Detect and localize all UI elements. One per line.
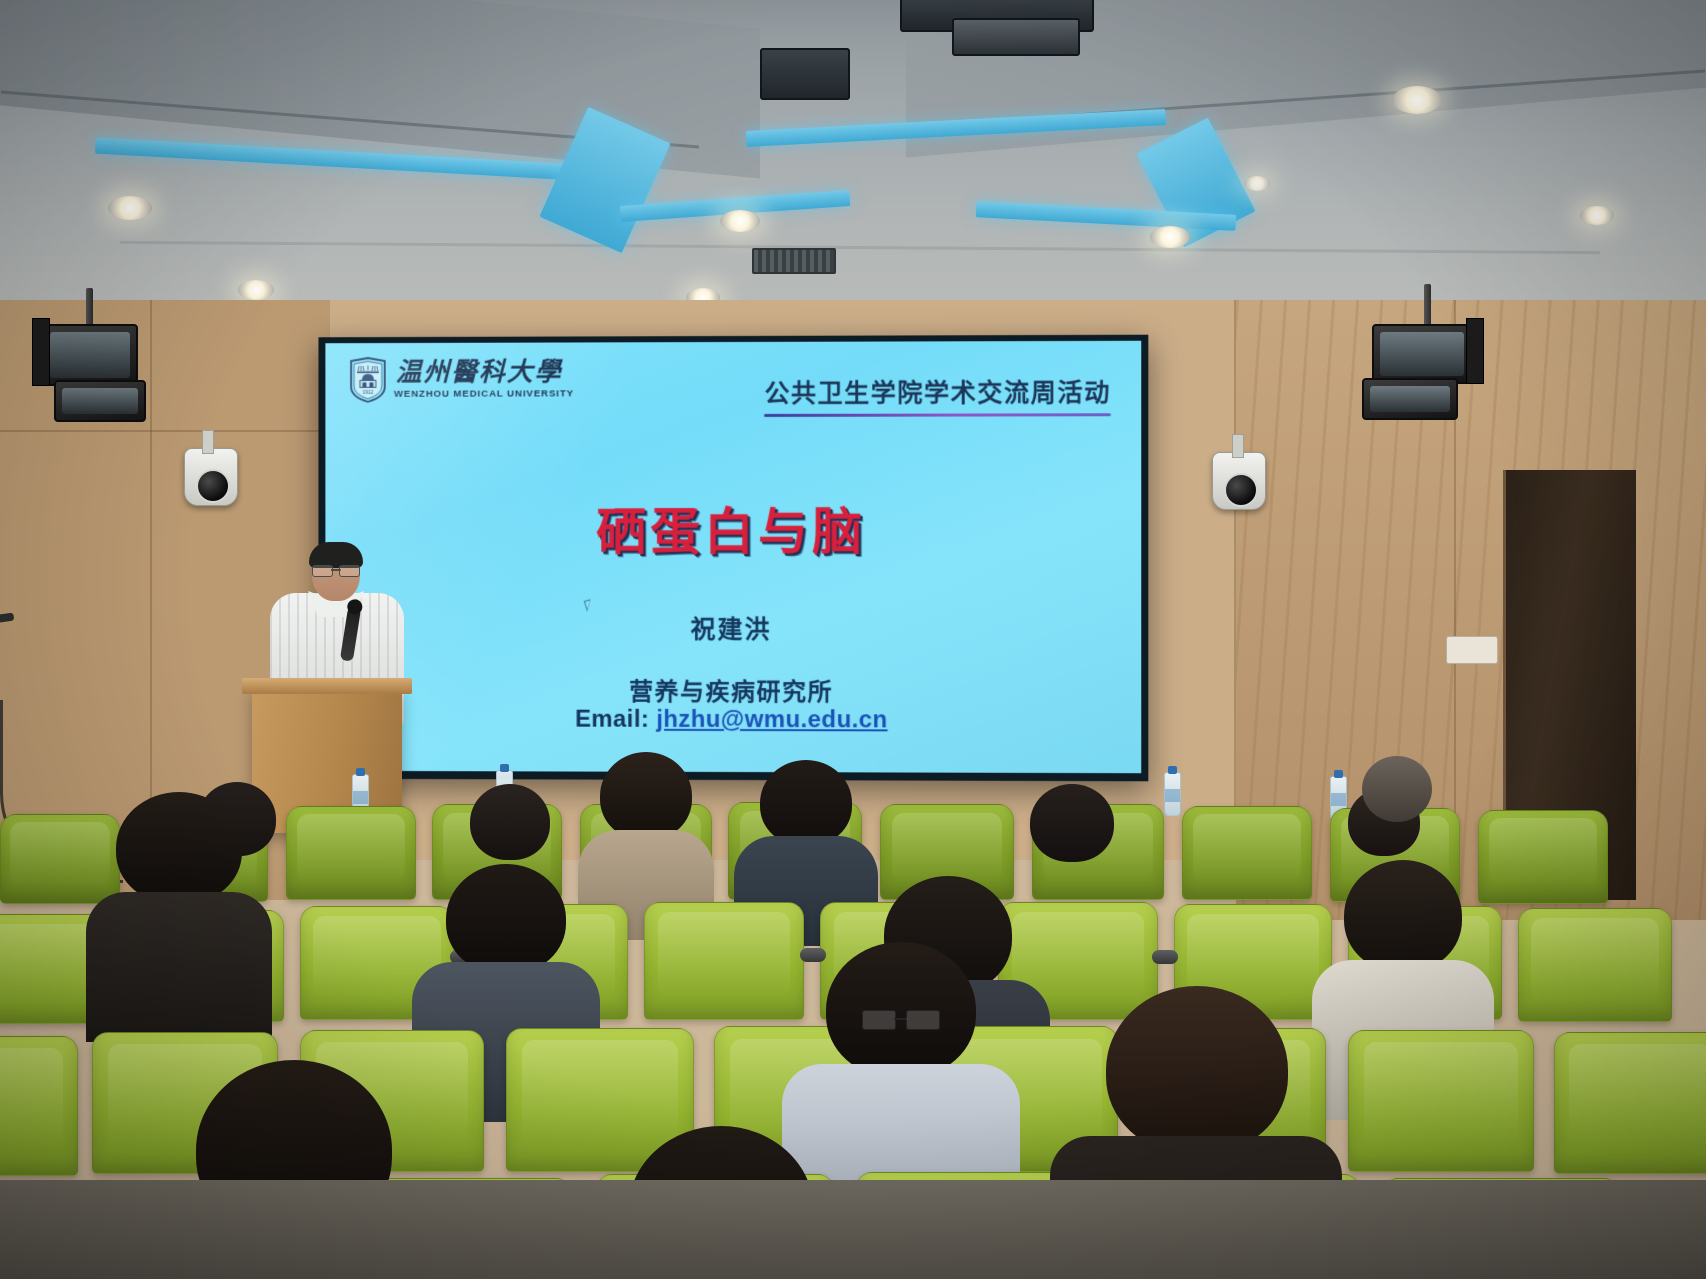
stage-light-fixture [1362,378,1458,420]
ptz-camera-right [1212,452,1266,510]
ceiling-projector [760,48,850,100]
ceiling-downlight [108,196,152,220]
auditorium-seat[interactable] [1518,908,1672,1022]
podium-top [242,678,412,694]
light-lens [1370,386,1450,412]
camera-mount-arm [202,430,214,454]
svg-text:1912: 1912 [362,390,373,396]
ceiling-seam [120,241,1600,254]
ceiling-downlight [1244,176,1270,191]
stage-light-fixture [1372,324,1472,384]
light-lens [1380,332,1464,376]
slide-title: 硒蛋白与脑 [325,492,1141,564]
ceiling [0,0,1706,330]
university-logo: 1912 温州醫科大學 WENZHOU MEDICAL UNIVERSITY [349,356,572,402]
camera-mount-arm [1232,434,1244,458]
email-link[interactable]: jhzhu@wmu.edu.cn [656,706,887,734]
stage-light-rig-right [1340,284,1500,434]
wenzhou-medical-university-crest-icon: 1912 [349,357,387,403]
ceiling-vent [752,248,836,274]
stage-light-fixture [54,380,146,422]
seat-armrest [1152,950,1178,964]
light-mount-pole [86,288,93,328]
email-label: Email: [575,706,649,733]
stage-light-fixture [42,324,138,386]
seat-armrest [800,948,826,962]
wall-seam [0,430,330,432]
light-mount-pole [1424,284,1431,328]
slide-email-line: Email: jhzhu@wmu.edu.cn [325,705,1141,735]
slide-affiliation: 营养与疾病研究所 [325,671,1141,707]
auditorium-seat[interactable] [1478,810,1608,904]
logo-name-en: WENZHOU MEDICAL UNIVERSITY [394,390,574,400]
projection-screen: 1912 温州醫科大學 WENZHOU MEDICAL UNIVERSITY 公… [318,335,1148,782]
light-lens [50,332,130,378]
auditorium-seat[interactable] [0,814,120,904]
ceiling-downlight [238,280,274,300]
ceiling-downlight [720,210,760,232]
ceiling-equipment-box [952,18,1080,56]
eyeglasses-icon [312,565,360,575]
auditorium-seat[interactable] [1348,1030,1534,1172]
ptz-camera-left [184,448,238,506]
auditorium-seat[interactable] [286,806,416,900]
slide-speaker-name: 祝建洪 [325,610,1141,647]
barn-door [32,318,50,386]
auditorium-seat[interactable] [0,1036,78,1176]
logo-name-cn: 温州醫科大學 [396,360,573,386]
stage-light-rig-left [20,288,170,428]
ceiling-downlight [1392,86,1442,114]
slide-header-text: 公共卫生学院学术交流周活动 [764,373,1110,410]
eyeglasses-icon [862,1010,940,1028]
floor [0,1180,1706,1279]
auditorium-scene: 1912 温州醫科大學 WENZHOU MEDICAL UNIVERSITY 公… [0,0,1706,1279]
slide-header-rule [764,413,1110,417]
auditorium-seat[interactable] [1554,1032,1706,1174]
auditorium-seat[interactable] [1182,806,1312,900]
ceiling-downlight [1580,206,1614,225]
wall-socket[interactable] [1446,636,1498,664]
ceiling-downlight [1150,226,1190,248]
barn-door [1466,318,1484,384]
slide-header: 公共卫生学院学术交流周活动 [764,373,1110,417]
light-lens [62,388,138,414]
auditorium-seat[interactable] [644,902,804,1020]
presentation-slide: 1912 温州醫科大學 WENZHOU MEDICAL UNIVERSITY 公… [325,341,1141,773]
